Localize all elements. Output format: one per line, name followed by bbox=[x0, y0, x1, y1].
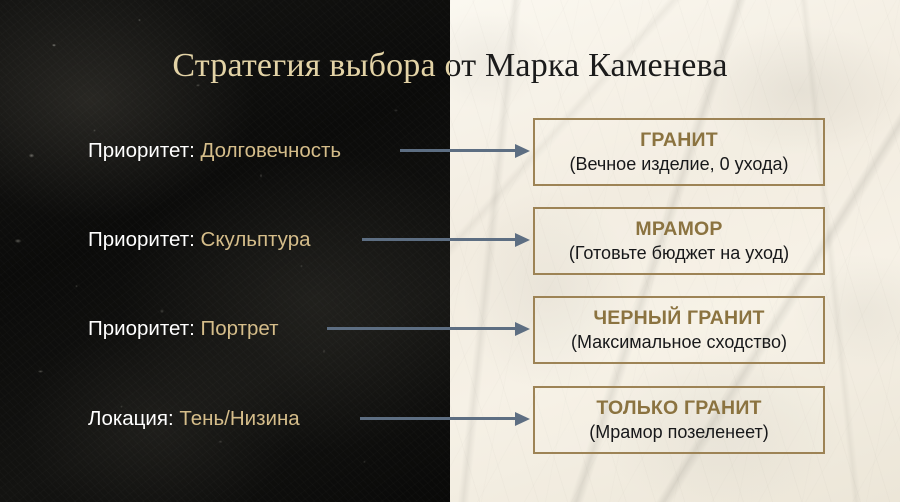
result-box-granite-only: ТОЛЬКО ГРАНИТ (Мрамор позеленеет) bbox=[533, 386, 825, 454]
result-box-black-granite: ЧЕРНЫЙ ГРАНИТ (Максимальное сходство) bbox=[533, 296, 825, 364]
arrow-location bbox=[360, 412, 530, 426]
criterion-value-2: Скульптура bbox=[201, 228, 311, 251]
infographic-slide: Стратегия выбора от Марка Каменева Страт… bbox=[0, 0, 900, 502]
result-sub-2: (Готовьте бюджет на уход) bbox=[569, 242, 789, 264]
arrow-head bbox=[515, 322, 530, 336]
criterion-key-1: Приоритет: bbox=[88, 139, 195, 162]
arrow-shaft bbox=[362, 238, 516, 241]
arrow-portrait bbox=[327, 322, 530, 336]
criterion-row-1: Приоритет: Долговечность bbox=[88, 139, 341, 163]
arrow-shaft bbox=[327, 327, 516, 330]
result-sub-3: (Максимальное сходство) bbox=[571, 331, 787, 353]
criterion-value-1: Долговечность bbox=[201, 139, 342, 162]
arrow-shaft bbox=[400, 149, 516, 152]
result-title-4: ТОЛЬКО ГРАНИТ bbox=[596, 397, 761, 420]
arrow-sculpture bbox=[362, 233, 530, 247]
result-title-3: ЧЕРНЫЙ ГРАНИТ bbox=[593, 307, 764, 330]
page-title: Стратегия выбора от Марка Каменева Страт… bbox=[0, 42, 900, 92]
arrow-head bbox=[515, 412, 530, 426]
criterion-value-4: Тень/Низина bbox=[179, 407, 299, 430]
result-sub-1: (Вечное изделие, 0 ухода) bbox=[569, 153, 788, 175]
criterion-row-3: Приоритет: Портрет bbox=[88, 317, 279, 341]
criterion-key-3: Приоритет: bbox=[88, 317, 195, 340]
arrow-head bbox=[515, 144, 530, 158]
arrow-shaft bbox=[360, 417, 516, 420]
result-box-marble: МРАМОР (Готовьте бюджет на уход) bbox=[533, 207, 825, 275]
criterion-row-4: Локация: Тень/Низина bbox=[88, 407, 300, 431]
criterion-value-3: Портрет bbox=[201, 317, 279, 340]
result-box-granite: ГРАНИТ (Вечное изделие, 0 ухода) bbox=[533, 118, 825, 186]
arrow-durability bbox=[400, 144, 530, 158]
result-title-2: МРАМОР bbox=[635, 218, 722, 241]
criterion-key-4: Локация: bbox=[88, 407, 174, 430]
criterion-key-2: Приоритет: bbox=[88, 228, 195, 251]
arrow-head bbox=[515, 233, 530, 247]
result-title-1: ГРАНИТ bbox=[640, 129, 718, 152]
result-sub-4: (Мрамор позеленеет) bbox=[589, 421, 769, 443]
criterion-row-2: Приоритет: Скульптура bbox=[88, 228, 311, 252]
